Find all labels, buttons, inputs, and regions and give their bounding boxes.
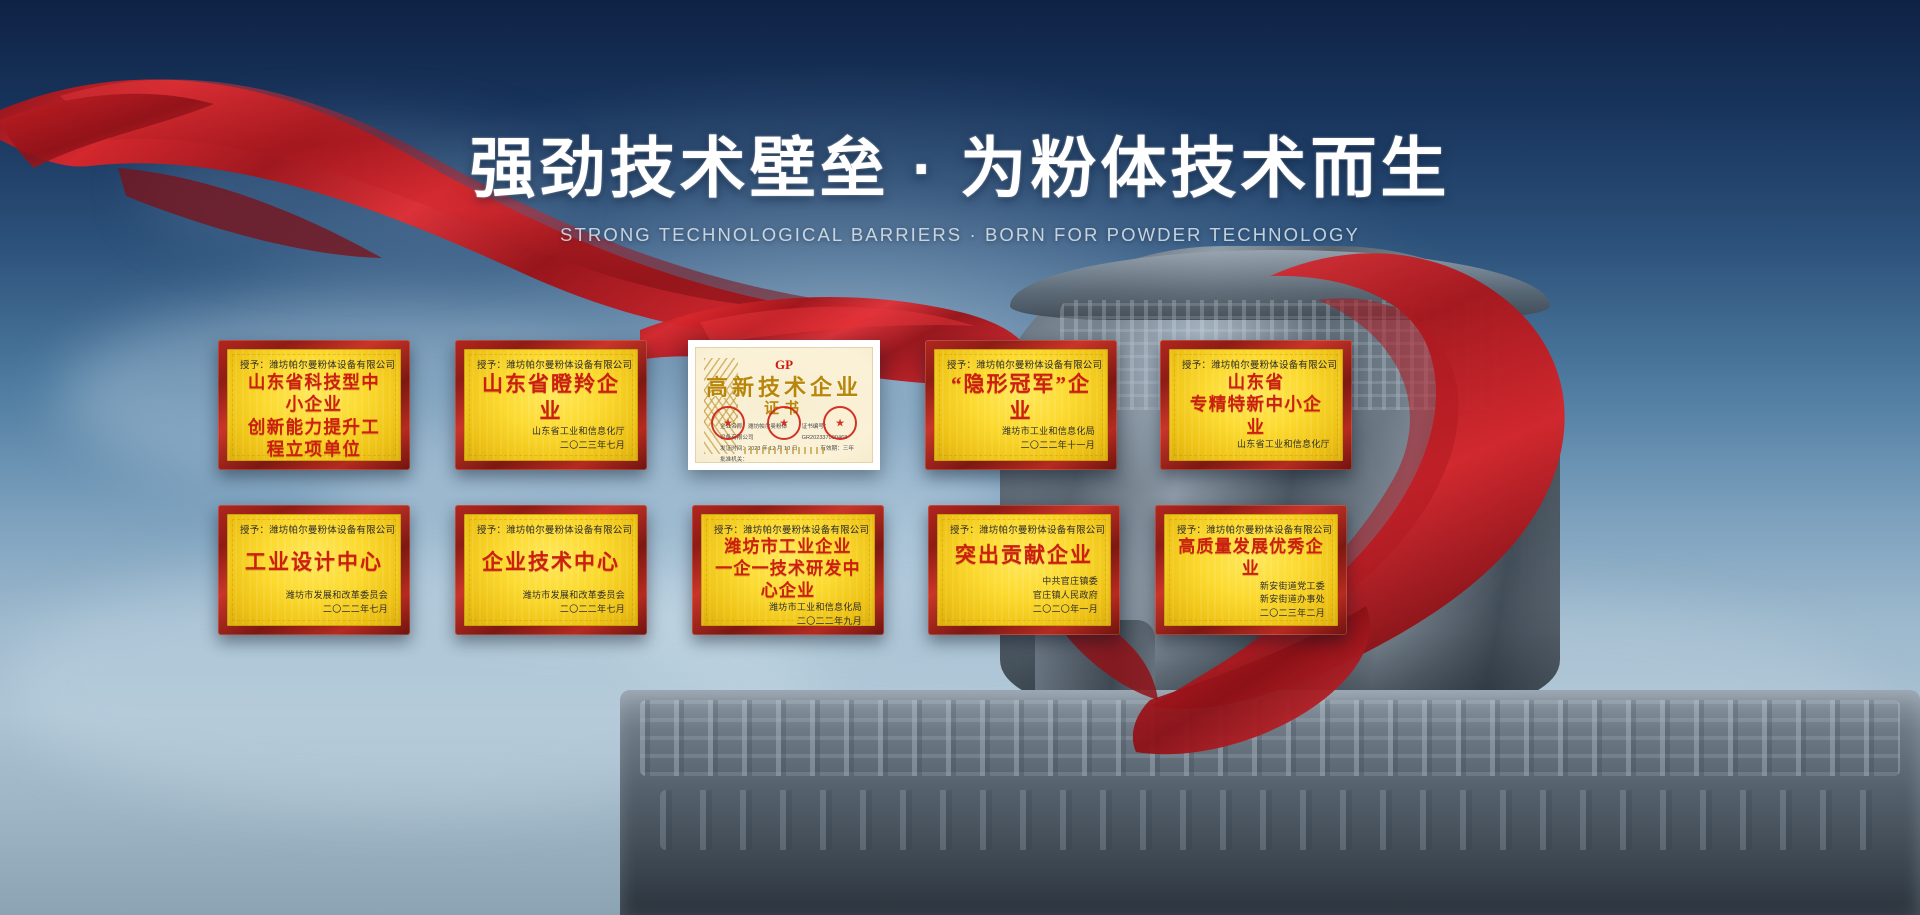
plaque-title-line1: 山东省瞪羚企业 bbox=[477, 371, 625, 425]
plaque-footer: 山东省工业和信息化厅 二〇二三年七月 bbox=[477, 425, 625, 453]
plaque-footer: 新安街道党工委 新安街道办事处 二〇二三年二月 bbox=[1177, 580, 1325, 622]
plaque-title-line1: 企业技术中心 bbox=[482, 549, 620, 576]
plaque-issuer: 山东省工业和信息化厅 bbox=[477, 425, 625, 439]
plaque-title-line1: 高质量发展优秀企业 bbox=[1177, 536, 1325, 580]
plaque-footer: 中共官庄镇委 官庄镇人民政府 二〇二〇年一月 bbox=[950, 575, 1098, 617]
plaque-issuer: 山东省工业和信息化厅 bbox=[1182, 438, 1330, 452]
plaque-issuer: 潍坊市工业和信息化局 bbox=[947, 425, 1095, 439]
plaque-footer: 潍坊市发展和改革委员会 二〇二二年七月 bbox=[477, 589, 625, 617]
plaque-shandong-specialized-sme[interactable]: 授予：潍坊帕尔曼粉体设备有限公司 山东省 专精特新中小企业 山东省工业和信息化厅 bbox=[1160, 340, 1352, 470]
plaque-date: 二〇二二年七月 bbox=[477, 603, 625, 617]
plaque-high-quality-development-enterprise[interactable]: 授予：潍坊帕尔曼粉体设备有限公司 高质量发展优秀企业 新安街道党工委 新安街道办… bbox=[1155, 505, 1347, 635]
plaque-award-line: 授予：潍坊帕尔曼粉体设备有限公司 bbox=[477, 357, 625, 371]
official-seal-icon bbox=[767, 406, 801, 440]
plaque-outstanding-contribution-enterprise[interactable]: 授予：潍坊帕尔曼粉体设备有限公司 突出贡献企业 中共官庄镇委 官庄镇人民政府 二… bbox=[928, 505, 1120, 635]
plaque-award-line: 授予：潍坊帕尔曼粉体设备有限公司 bbox=[477, 522, 625, 536]
plaque-date: 二〇二三年二月 bbox=[1177, 607, 1325, 621]
plaque-issuer: 潍坊市发展和改革委员会 bbox=[240, 589, 388, 603]
plaque-award-line: 授予：潍坊帕尔曼粉体设备有限公司 bbox=[1177, 522, 1325, 536]
certificates-grid: 授予：潍坊帕尔曼粉体设备有限公司 山东省科技型中小企业 创新能力提升工程立项单位… bbox=[0, 0, 1920, 915]
certificate-field-value: 有效期：三年 bbox=[820, 444, 854, 455]
plaque-date: 二〇二二年七月 bbox=[240, 603, 388, 617]
plaque-shandong-gazelle-enterprise[interactable]: 授予：潍坊帕尔曼粉体设备有限公司 山东省瞪羚企业 山东省工业和信息化厅 二〇二三… bbox=[455, 340, 647, 470]
plaque-award-line: 授予：潍坊帕尔曼粉体设备有限公司 bbox=[240, 357, 388, 371]
plaque-title-line2: 创新能力提升工程立项单位 bbox=[240, 416, 388, 461]
plaque-award-line: 授予：潍坊帕尔曼粉体设备有限公司 bbox=[714, 522, 862, 536]
banner-stage: 强劲技术壁垒 · 为粉体技术而生 STRONG TECHNOLOGICAL BA… bbox=[0, 0, 1920, 915]
plaque-title: 工业设计中心 bbox=[240, 536, 388, 589]
plaque-issuer-secondary: 新安街道办事处 bbox=[1177, 593, 1325, 607]
plaque-date: 二〇二二年九月 bbox=[714, 615, 862, 626]
plaque-award-line: 授予：潍坊帕尔曼粉体设备有限公司 bbox=[950, 522, 1098, 536]
plaque-issuer: 中共官庄镇委 bbox=[950, 575, 1098, 589]
plaque-title: 突出贡献企业 bbox=[950, 536, 1098, 575]
plaque-award-line: 授予：潍坊帕尔曼粉体设备有限公司 bbox=[240, 522, 388, 536]
plaque-industrial-design-center[interactable]: 授予：潍坊帕尔曼粉体设备有限公司 工业设计中心 潍坊市发展和改革委员会 二〇二二… bbox=[218, 505, 410, 635]
plaque-title: 高质量发展优秀企业 bbox=[1177, 536, 1325, 580]
plaque-issuer: 潍坊市工业和信息化局 bbox=[714, 601, 862, 615]
plaque-date: 二〇二〇年一月 bbox=[950, 603, 1098, 617]
plaque-title-line1: 山东省 bbox=[1228, 371, 1285, 393]
plaque-title: “隐形冠军”企业 bbox=[947, 371, 1095, 425]
plaque-title-line1: 潍坊市工业企业 bbox=[724, 536, 851, 558]
plaque-award-line: 授予：潍坊帕尔曼粉体设备有限公司 bbox=[1182, 357, 1330, 371]
plaque-issuer-secondary: 官庄镇人民政府 bbox=[950, 589, 1098, 603]
plaque-issuer: 潍坊市发展和改革委员会 bbox=[477, 589, 625, 603]
plaque-issuer: 新安街道党工委 bbox=[1177, 580, 1325, 594]
certificate-ribbon-band bbox=[744, 447, 824, 454]
plaque-title-line2: 一企一技术研发中心企业 bbox=[714, 558, 862, 602]
plaque-footer: 山东省工业和信息化厅 bbox=[1182, 438, 1330, 452]
plaque-title: 山东省瞪羚企业 bbox=[477, 371, 625, 425]
plaque-title-line2: 专精特新中小企业 bbox=[1182, 393, 1330, 438]
plaque-title-line1: 突出贡献企业 bbox=[955, 542, 1093, 569]
plaque-hidden-champion-enterprise[interactable]: 授予：潍坊帕尔曼粉体设备有限公司 “隐形冠军”企业 潍坊市工业和信息化局 二〇二… bbox=[925, 340, 1117, 470]
plaque-weifang-industrial-rd-center[interactable]: 授予：潍坊帕尔曼粉体设备有限公司 潍坊市工业企业 一企一技术研发中心企业 潍坊市… bbox=[692, 505, 884, 635]
plaque-title: 企业技术中心 bbox=[477, 536, 625, 589]
plaque-date: 二〇二三年七月 bbox=[477, 439, 625, 453]
plaque-title: 潍坊市工业企业 一企一技术研发中心企业 bbox=[714, 536, 862, 601]
plaque-title: 山东省 专精特新中小企业 bbox=[1182, 371, 1330, 438]
certificate-field-label: 批准机关： bbox=[720, 455, 748, 463]
certificate-seals bbox=[696, 406, 872, 440]
certificate-face: GP 高新技术企业 证书 企业名称：潍坊帕尔曼粉体设备有限公司 证书编号：GR2… bbox=[695, 347, 873, 463]
plaque-date: 二〇二二年十一月 bbox=[947, 439, 1095, 453]
plaque-enterprise-technology-center[interactable]: 授予：潍坊帕尔曼粉体设备有限公司 企业技术中心 潍坊市发展和改革委员会 二〇二二… bbox=[455, 505, 647, 635]
plaque-footer: 潍坊市发展和改革委员会 二〇二二年七月 bbox=[240, 589, 388, 617]
plaque-footer: 潍坊市工业和信息化局 二〇二二年九月 bbox=[714, 601, 862, 626]
plaque-title-line1: 工业设计中心 bbox=[245, 549, 383, 576]
plaque-title-line1: 山东省科技型中小企业 bbox=[240, 371, 388, 416]
certificate-high-tech-enterprise[interactable]: GP 高新技术企业 证书 企业名称：潍坊帕尔曼粉体设备有限公司 证书编号：GR2… bbox=[688, 340, 880, 470]
plaque-shandong-sci-tech-sme[interactable]: 授予：潍坊帕尔曼粉体设备有限公司 山东省科技型中小企业 创新能力提升工程立项单位… bbox=[218, 340, 410, 470]
plaque-award-line: 授予：潍坊帕尔曼粉体设备有限公司 bbox=[947, 357, 1095, 371]
plaque-title-line1: “隐形冠军”企业 bbox=[947, 371, 1095, 425]
plaque-footer: 潍坊市工业和信息化局 二〇二二年十一月 bbox=[947, 425, 1095, 453]
official-seal-icon bbox=[711, 406, 745, 440]
plaque-title: 山东省科技型中小企业 创新能力提升工程立项单位 bbox=[240, 371, 388, 461]
official-seal-icon bbox=[823, 406, 857, 440]
